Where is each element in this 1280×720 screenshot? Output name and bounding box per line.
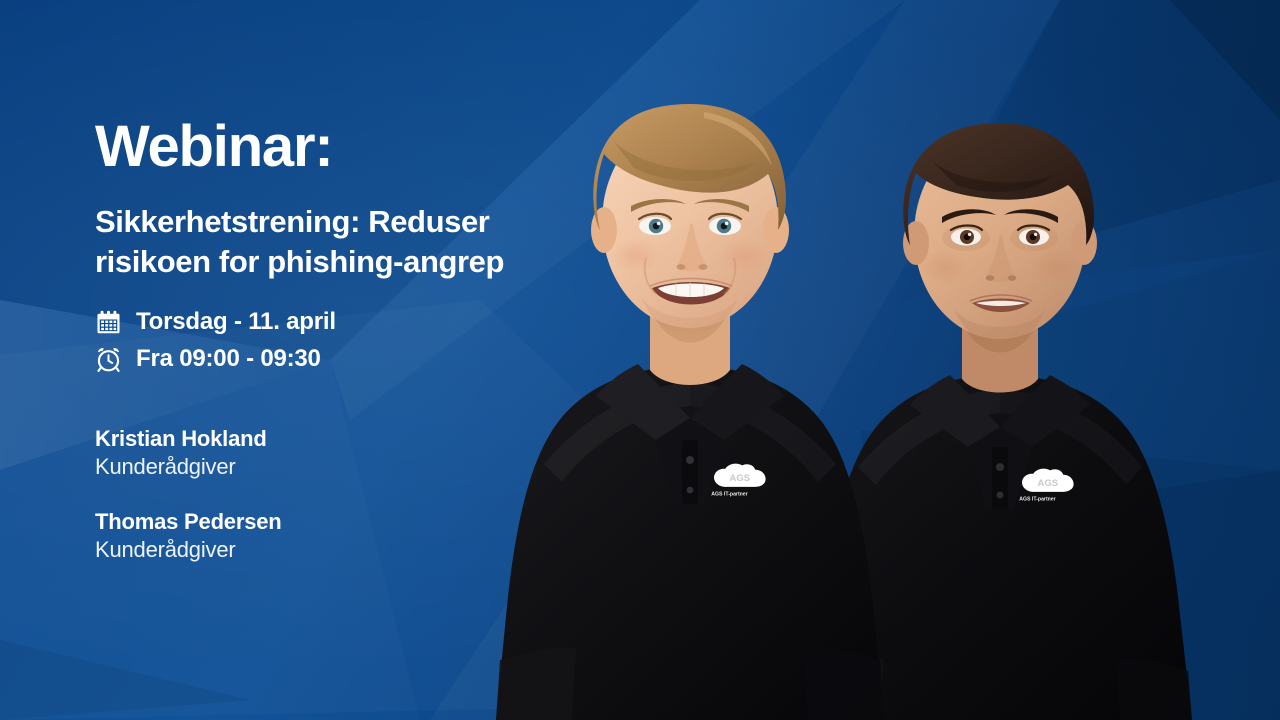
page-title: Webinar: [95,118,615,176]
speaker-role: Kunderådgiver [95,536,615,565]
speaker-item: Thomas Pedersen Kunderådgiver [95,508,615,565]
speaker-name: Kristian Hokland [95,425,615,454]
speaker-role: Kunderådgiver [95,453,615,482]
svg-text:AGS: AGS [1038,478,1059,489]
speakers-list: Kristian Hokland Kunderådgiver Thomas Pe… [95,425,615,565]
schedule-date-text: Torsdag - 11. april [136,310,336,334]
schedule-date-row: Torsdag - 11. april [95,309,615,336]
speaker-name: Thomas Pedersen [95,508,615,537]
webinar-promo-slide: AGS AGS IT-partner [0,0,1280,720]
webinar-subtitle: Sikkerhetstrening: Reduser risikoen for … [95,202,595,283]
alarm-clock-icon [95,346,122,373]
speaker-item: Kristian Hokland Kunderådgiver [95,425,615,482]
svg-text:AGS IT-partner: AGS IT-partner [711,492,747,498]
calendar-icon [95,309,122,336]
svg-text:AGS: AGS [730,473,751,484]
svg-text:AGS IT-partner: AGS IT-partner [1019,497,1055,503]
schedule-time-row: Fra 09:00 - 09:30 [95,346,615,373]
schedule-time-text: Fra 09:00 - 09:30 [136,347,321,371]
text-block: Webinar: Sikkerhetstrening: Reduser risi… [95,118,615,591]
